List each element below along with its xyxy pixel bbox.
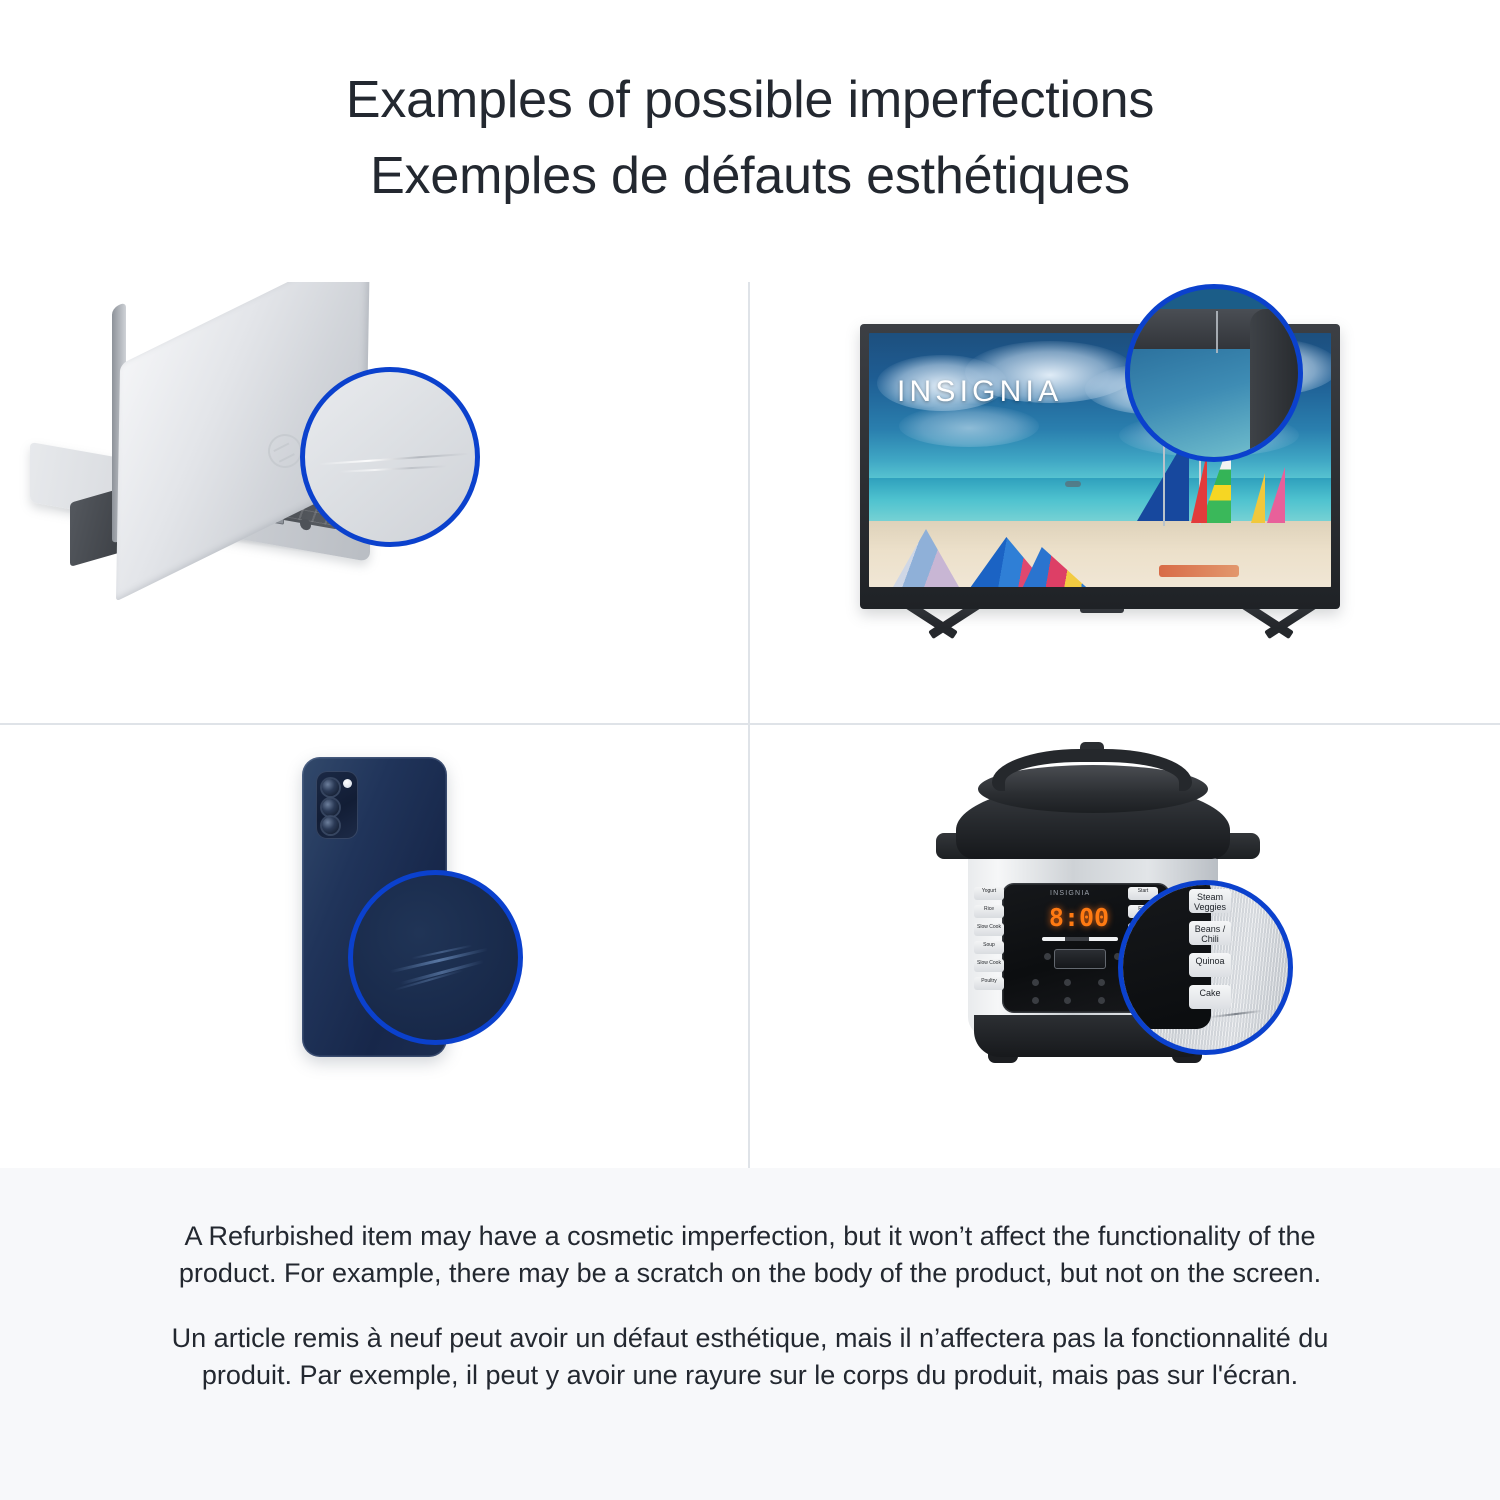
cooker-led-display: 8:00 (1044, 905, 1114, 931)
cooker-keypad-dot[interactable] (1032, 979, 1039, 986)
cooker-lid-handle (992, 749, 1192, 791)
disclaimer-french: Un article remis à neuf peut avoir un dé… (170, 1320, 1330, 1394)
cooker-keypad-dot[interactable] (1064, 979, 1071, 986)
page-title-french: Exemples de défauts esthétiques (0, 138, 1500, 214)
cooker-button[interactable]: Rice (974, 905, 1004, 918)
tv-illustration: INSIGNIA (750, 282, 1500, 723)
beached-hull (1159, 565, 1239, 577)
cooker-mag-button-beans-chili: Beans / Chili (1189, 921, 1231, 945)
disclaimer-section: A Refurbished item may have a cosmetic i… (0, 1168, 1500, 1500)
panel-tv: INSIGNIA (750, 282, 1500, 723)
grid-divider-vertical (748, 282, 750, 1168)
tv-screen-brand-logo: INSIGNIA (897, 375, 1062, 409)
tv-mag-screen-area (1125, 347, 1255, 462)
magnifier-circle-cooker: Steam Veggies Beans / Chili Quinoa Cake (1118, 880, 1293, 1055)
phone-camera-lens-icon (322, 779, 339, 796)
cooker-button[interactable]: Slow Cook (974, 959, 1004, 972)
cooker-mode-window (1054, 949, 1106, 969)
phone-camera-lens-icon (322, 799, 339, 816)
product-examples-grid: INSIGNIA (0, 282, 1500, 1168)
cooker-button[interactable]: Yogurt (974, 887, 1004, 900)
cooker-brand-label: INSIGNIA (1050, 890, 1090, 897)
page-header: Examples of possible imperfections Exemp… (0, 0, 1500, 214)
cooker-keypad-dot[interactable] (1098, 997, 1105, 1004)
panel-pressure-cooker: INSIGNIA 8:00 Yogurt Rice Slow Cook Soup… (750, 725, 1500, 1168)
cooker-button[interactable]: Soup (974, 941, 1004, 954)
cooker-scratch-mark (1209, 1010, 1263, 1018)
cooker-keypad-dot[interactable] (1032, 997, 1039, 1004)
phone-camera-module (316, 771, 358, 839)
cooker-keypad-dot[interactable] (1044, 953, 1051, 960)
cooker-button-column-left: Yogurt Rice Slow Cook Soup Slow Cook Pou… (974, 887, 1004, 995)
cooker-keypad-dot[interactable] (1098, 979, 1105, 986)
cooker-button[interactable]: Poultry (974, 977, 1004, 990)
phone-illustration (0, 725, 748, 1168)
magnifier-circle-phone (348, 870, 523, 1045)
disclaimer-english: A Refurbished item may have a cosmetic i… (170, 1218, 1330, 1292)
cooker-keypad-dot[interactable] (1064, 997, 1071, 1004)
phone-flash-icon (343, 779, 352, 788)
tv-bezel-scratch-mark (1216, 311, 1218, 353)
grid-divider-horizontal (0, 723, 1500, 725)
cooker-button[interactable]: Slow Cook (974, 923, 1004, 936)
panel-phone (0, 725, 748, 1168)
tv-mag-bezel-right (1250, 309, 1303, 462)
distant-boat (1065, 481, 1081, 487)
cooker-pressure-slider[interactable] (1042, 937, 1118, 941)
cooker-mag-button-cake: Cake (1189, 985, 1231, 1009)
cooker-mag-button-steam-veggies: Steam Veggies (1189, 889, 1231, 913)
laptop-scratch-mark (319, 453, 469, 465)
phone-camera-lens-icon (322, 817, 339, 834)
cloud-shape (899, 405, 1039, 447)
laptop-illustration (0, 282, 748, 723)
phone-scratch-mark (400, 960, 484, 985)
cooker-mag-button-quinoa: Quinoa (1189, 953, 1231, 977)
page-title-english: Examples of possible imperfections (0, 62, 1500, 138)
pressure-cooker-illustration: INSIGNIA 8:00 Yogurt Rice Slow Cook Soup… (750, 725, 1500, 1168)
panel-laptop (0, 282, 748, 723)
magnifier-circle-tv (1125, 284, 1303, 462)
magnifier-circle-laptop (300, 367, 480, 547)
laptop-scratch-mark-secondary (339, 465, 447, 472)
